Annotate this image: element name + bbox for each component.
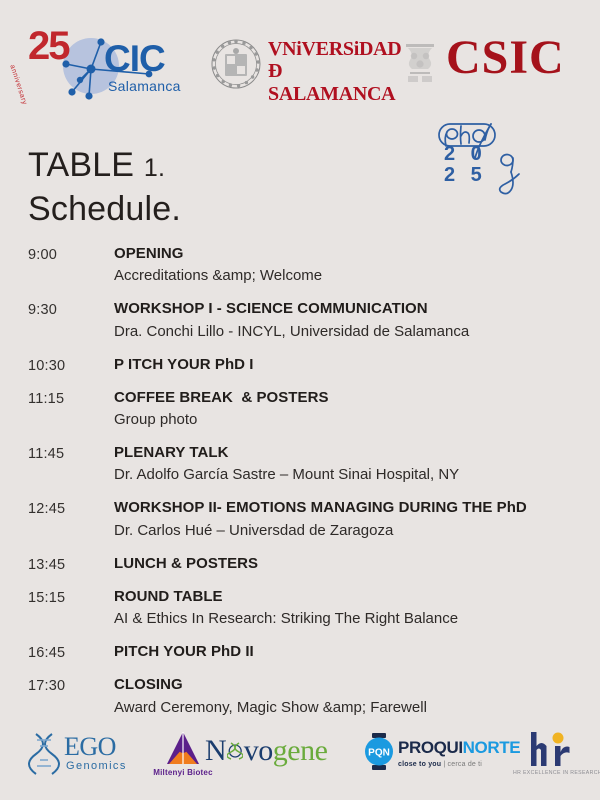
schedule-row-body: WORKSHOP I - SCIENCE COMMUNICATION Dra. …	[114, 299, 580, 341]
proquinorte-wordmark-part1: PROQUI	[398, 738, 463, 757]
ego-wordmark: EGO	[64, 734, 116, 760]
schedule-row: 9:00 OPENING Accreditations &amp; Welcom…	[28, 244, 580, 286]
schedule-row: 13:45 LUNCH & POSTERS	[28, 554, 580, 574]
schedule-row-subtitle: Award Ceremony, Magic Show &amp; Farewel…	[114, 697, 580, 718]
usal-wordmark-line1: VNiVERSiDAD	[268, 38, 401, 60]
csic-seal-icon	[400, 40, 440, 84]
schedule-row-body: CLOSING Award Ceremony, Magic Show &amp;…	[114, 675, 580, 717]
schedule-row: 11:15 COFFEE BREAK & POSTERS Group photo	[28, 388, 580, 430]
phd-day-2025-mark: 2 0 2 5	[435, 118, 545, 198]
usal-wordmark-line2: Ð SALAMANCA	[268, 60, 401, 105]
schedule-row-body: PLENARY TALK Dr. Adolfo García Sastre – …	[114, 443, 580, 485]
cic-subtitle: Salamanca	[108, 78, 181, 94]
phd-day-year: 2 0 2 5	[444, 144, 487, 186]
phd-day-year-top: 2 0	[444, 144, 487, 165]
proquinorte-badge-icon: PQN	[362, 732, 396, 772]
page-title-line1: TABLE 1.	[28, 144, 408, 188]
schedule-row-time: 16:45	[28, 642, 114, 661]
schedule-row: 10:30 P ITCH YOUR PhD I	[28, 355, 580, 375]
schedule-row-time: 15:15	[28, 587, 114, 606]
schedule-row: 15:15 ROUND TABLE AI & Ethics In Researc…	[28, 587, 580, 629]
logo-novogene: N○vogene	[205, 736, 345, 776]
logo-hr-excellence-in-research: HR EXCELLENCE IN RESEARCH	[515, 730, 587, 782]
schedule-row: 12:45 WORKSHOP II- EMOTIONS MANAGING DUR…	[28, 498, 580, 540]
logo-ego-genomics: EGO Genomics	[28, 732, 138, 778]
schedule-row-time: 11:45	[28, 443, 114, 462]
cic-anniversary-number: 25	[28, 26, 69, 66]
proquinorte-tagline-bold: close to you	[398, 761, 441, 768]
schedule-row-body: WORKSHOP II- EMOTIONS MANAGING DURING TH…	[114, 498, 580, 540]
schedule-row-time: 10:30	[28, 355, 114, 374]
schedule-row-time: 17:30	[28, 675, 114, 694]
schedule-row-body: COFFEE BREAK & POSTERS Group photo	[114, 388, 580, 430]
ego-subtitle: Genomics	[66, 760, 127, 772]
schedule-row-title: WORKSHOP II- EMOTIONS MANAGING DURING TH…	[114, 498, 580, 518]
schedule-row-time: 11:15	[28, 388, 114, 407]
schedule-row-title: PITCH YOUR PhD II	[114, 642, 580, 662]
schedule-row-title: LUNCH & POSTERS	[114, 554, 580, 574]
novogene-wordmark-part2: vo	[244, 734, 273, 767]
schedule-row-title: ROUND TABLE	[114, 587, 580, 607]
schedule-row-time: 9:30	[28, 299, 114, 318]
cic-wordmark: CIC	[104, 40, 165, 77]
proquinorte-wordmark-part2: NORTE	[463, 738, 521, 757]
schedule-row-body: ROUND TABLE AI & Ethics In Research: Str…	[114, 587, 580, 629]
logo-proquinorte: PQN PROQUINORTE close to you | cerca de …	[362, 732, 502, 782]
novogene-wordmark-part3: gene	[273, 734, 328, 767]
logo-universidad-salamanca: VNiVERSiDAD Ð SALAMANCA	[210, 36, 390, 94]
schedule-row-body: LUNCH & POSTERS	[114, 554, 580, 574]
novogene-helix-icon	[227, 742, 243, 760]
dna-helix-icon	[28, 732, 62, 776]
schedule-row-title: CLOSING	[114, 675, 580, 695]
page-title: TABLE 1. Schedule.	[28, 144, 408, 231]
cic-anniversary-label: anniversary	[8, 64, 28, 106]
logo-csic: CSIC	[400, 36, 580, 94]
page-title-number: 1.	[144, 154, 165, 182]
schedule-row-title: OPENING	[114, 244, 580, 264]
schedule-row-time: 9:00	[28, 244, 114, 263]
schedule-row: 9:30 WORKSHOP I - SCIENCE COMMUNICATION …	[28, 299, 580, 341]
schedule-row-time: 13:45	[28, 554, 114, 573]
schedule-row-subtitle: Accreditations &amp; Welcome	[114, 265, 580, 286]
phd-day-year-bottom: 2 5	[444, 165, 487, 186]
schedule-row-title: COFFEE BREAK & POSTERS	[114, 388, 580, 408]
schedule-row: 11:45 PLENARY TALK Dr. Adolfo García Sas…	[28, 443, 580, 485]
usal-seal-icon	[210, 38, 262, 90]
header-logo-bar: 25 anniversary CIC Salamanca	[0, 24, 600, 106]
schedule-row: 16:45 PITCH YOUR PhD II	[28, 642, 580, 662]
schedule-row-subtitle: Dra. Conchi Lillo - INCYL, Universidad d…	[114, 321, 580, 342]
schedule-row-body: P ITCH YOUR PhD I	[114, 355, 580, 375]
schedule-row-title: PLENARY TALK	[114, 443, 580, 463]
schedule-row-subtitle: Dr. Carlos Hué – Universdad de Zaragoza	[114, 520, 580, 541]
schedule-row-subtitle: Dr. Adolfo García Sastre – Mount Sinai H…	[114, 464, 580, 485]
schedule-row-body: OPENING Accreditations &amp; Welcome	[114, 244, 580, 286]
novogene-wordmark-part1: N	[205, 734, 226, 767]
schedule-row-subtitle: AI & Ethics In Research: Striking The Ri…	[114, 608, 580, 629]
schedule-row-body: PITCH YOUR PhD II	[114, 642, 580, 662]
schedule-row-title: WORKSHOP I - SCIENCE COMMUNICATION	[114, 299, 580, 319]
proquinorte-tagline: close to you | cerca de ti	[398, 761, 482, 768]
schedule-row: 17:30 CLOSING Award Ceremony, Magic Show…	[28, 675, 580, 717]
schedule-row-subtitle: Group photo	[114, 409, 580, 430]
schedule-row-time: 12:45	[28, 498, 114, 517]
proquinorte-tagline-rest: | cerca de ti	[441, 761, 482, 768]
page-title-line2: Schedule.	[28, 188, 408, 232]
logo-cic-salamanca: 25 anniversary CIC Salamanca	[24, 24, 199, 106]
csic-wordmark: CSIC	[446, 32, 565, 85]
page-title-prefix: TABLE	[28, 146, 144, 184]
sponsor-logo-bar: EGO Genomics Miltenyi Biotec N○vogene	[0, 722, 600, 792]
hr-excellence-tagline: HR EXCELLENCE IN RESEARCH	[513, 770, 589, 776]
novogene-wordmark: N○vogene	[205, 736, 327, 766]
schedule-list: 9:00 OPENING Accreditations &amp; Welcom…	[28, 244, 580, 718]
usal-wordmark: VNiVERSiDAD Ð SALAMANCA	[268, 38, 401, 105]
hr-excellence-icon	[525, 730, 577, 770]
proquinorte-wordmark: PROQUINORTE	[398, 739, 520, 756]
proquinorte-badge-text: PQN	[368, 748, 390, 759]
poster-page: 25 anniversary CIC Salamanca	[0, 0, 600, 800]
schedule-row-title: P ITCH YOUR PhD I	[114, 355, 580, 375]
